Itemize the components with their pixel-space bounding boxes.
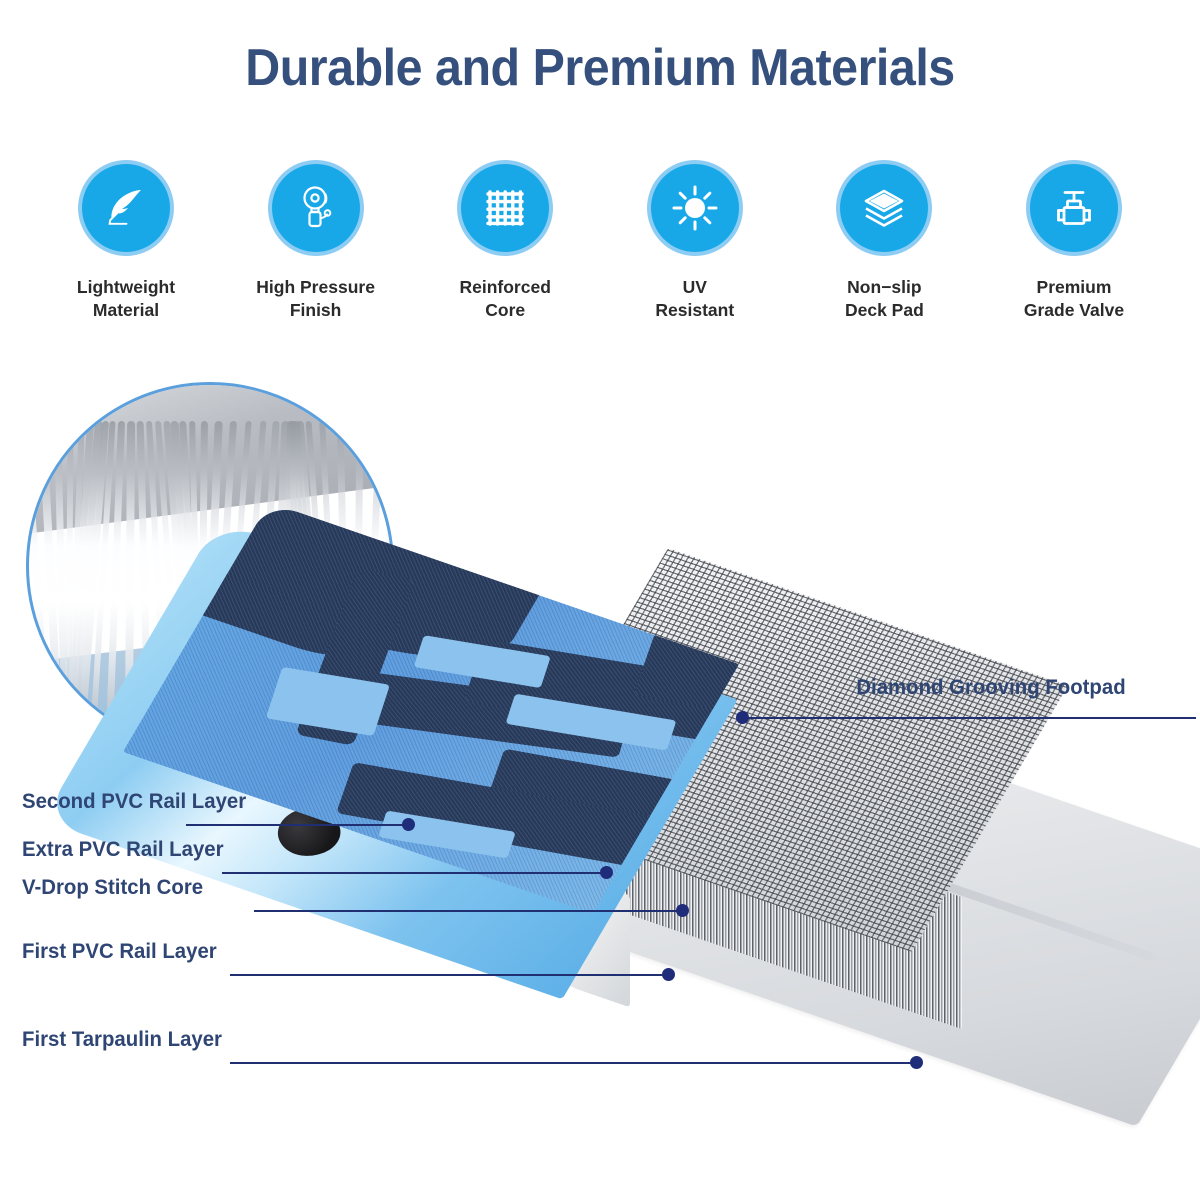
- callout-v-drop-stitch-core: V-Drop Stitch Core: [22, 876, 203, 900]
- leader-line-extra-pvc-rail-layer: [222, 872, 610, 874]
- page-title: Durable and Premium Materials: [42, 38, 1158, 98]
- callout-first-pvc-rail-layer: First PVC Rail Layer: [22, 940, 217, 964]
- leader-dot-v-drop-stitch-core: [676, 904, 689, 917]
- callout-extra-pvc-rail-layer: Extra PVC Rail Layer: [22, 838, 224, 862]
- leader-dot-first-tarpaulin-layer: [910, 1056, 923, 1069]
- leader-line-first-pvc-rail-layer: [230, 974, 672, 976]
- feature-label: High Pressure Finish: [256, 276, 375, 322]
- stacked-layers-icon: [836, 160, 932, 256]
- leader-dot-first-pvc-rail-layer: [662, 968, 675, 981]
- leader-line-diamond-grooving-footpad: [748, 717, 1196, 719]
- leader-line-v-drop-stitch-core: [254, 910, 686, 912]
- feature-item-lightweight-material[interactable]: Lightweight Material: [40, 160, 212, 322]
- feature-row: Lightweight Material High Pressure Finis…: [40, 160, 1160, 322]
- sun-icon: [647, 160, 743, 256]
- callout-first-tarpaulin-layer: First Tarpaulin Layer: [22, 1028, 222, 1052]
- feature-label: Reinforced Core: [459, 276, 550, 322]
- feature-label: Premium Grade Valve: [1024, 276, 1124, 322]
- feature-item-premium-grade-valve[interactable]: Premium Grade Valve: [988, 160, 1160, 322]
- feather-icon: [78, 160, 174, 256]
- feature-label: Non−slip Deck Pad: [845, 276, 924, 322]
- mesh-grid-icon: [457, 160, 553, 256]
- callout-diamond-grooving-footpad: Diamond Grooving Footpad: [856, 676, 1125, 700]
- leader-dot-extra-pvc-rail-layer: [600, 866, 613, 879]
- leader-dot-diamond-grooving-footpad: [736, 711, 749, 724]
- feature-label: UV Resistant: [655, 276, 734, 322]
- feature-item-reinforced-core[interactable]: Reinforced Core: [419, 160, 591, 322]
- feature-item-non-slip-deck-pad[interactable]: Non−slip Deck Pad: [798, 160, 970, 322]
- feature-item-uv-resistant[interactable]: UV Resistant: [609, 160, 781, 322]
- callout-second-pvc-rail-layer: Second PVC Rail Layer: [22, 790, 246, 814]
- valve-icon: [1026, 160, 1122, 256]
- feature-item-high-pressure-finish[interactable]: High Pressure Finish: [230, 160, 402, 322]
- pressure-gauge-icon: [268, 160, 364, 256]
- feature-label: Lightweight Material: [77, 276, 175, 322]
- leader-line-second-pvc-rail-layer: [186, 824, 414, 826]
- leader-dot-second-pvc-rail-layer: [402, 818, 415, 831]
- leader-line-first-tarpaulin-layer: [230, 1062, 922, 1064]
